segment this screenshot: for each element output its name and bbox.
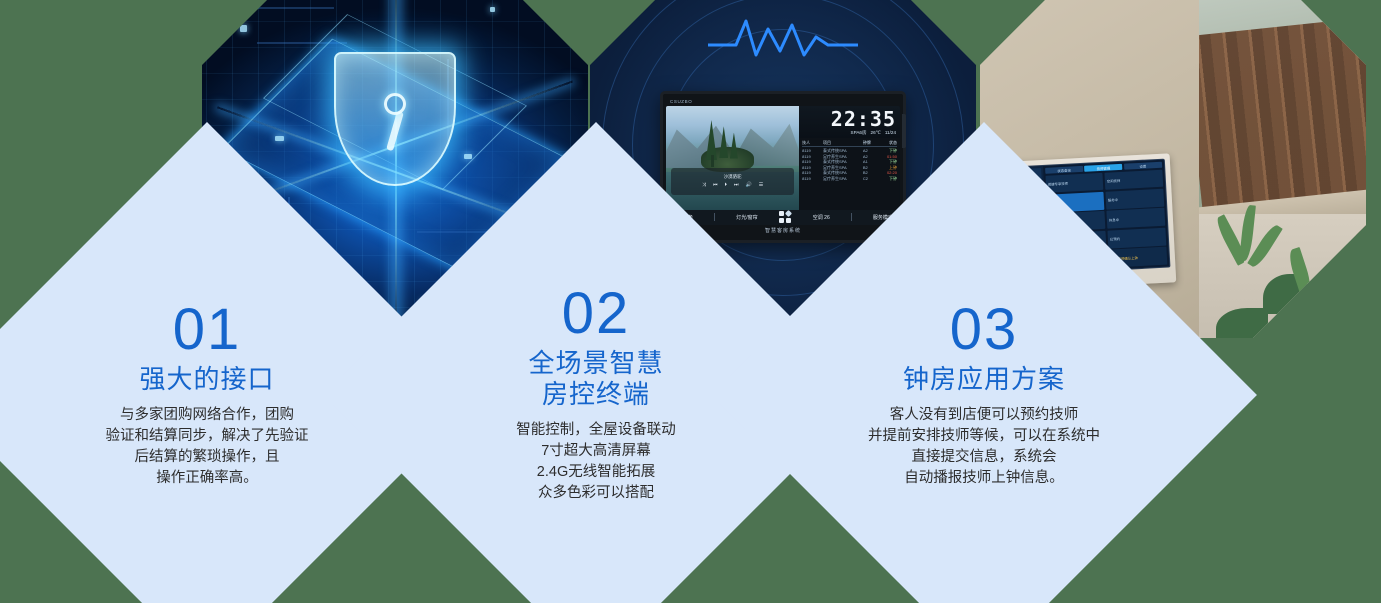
card-desc-line: 7寸超大高清屏幕: [446, 441, 746, 462]
home-grid-icon[interactable]: [779, 211, 792, 224]
table-row: 8119 足疗养生SPA C2 下钟: [802, 176, 897, 182]
date-label: 11/24: [885, 130, 896, 135]
tablet-screen[interactable]: 沙漠骆驼 ⤨ ⏮ ⏵ ⏭ 🔊 ☰: [666, 106, 900, 210]
card-title-line: 房控终端: [446, 379, 746, 410]
card-title: 全场景智慧 房控终端: [446, 348, 746, 410]
card-content: 02 全场景智慧 房控终端 智能控制，全屋设备联动 7寸超大高清屏幕 2.4G无…: [446, 286, 746, 504]
toolbar-aircon[interactable]: 空调 26: [810, 214, 833, 221]
music-player-widget[interactable]: 沙漠骆驼 ⤨ ⏮ ⏵ ⏭ 🔊 ☰: [671, 168, 794, 195]
card-description: 与多家团购网络合作，团购 验证和结算同步，解决了先验证 后结算的繁琐操作，且 操…: [57, 405, 357, 489]
now-playing-title: 沙漠骆驼: [724, 174, 742, 180]
list-item[interactable]: 空闲技师: [1105, 169, 1163, 190]
card-number: 02: [446, 286, 746, 342]
card-desc-line: 众多色彩可以搭配: [446, 483, 746, 504]
vendor-logo-text: 智慧客房系统: [765, 227, 801, 234]
feature-diamond-banner: CSUZBO 沙漠骆驼: [0, 0, 1381, 603]
heartbeat-icon: [708, 10, 858, 64]
col-header: 钟牌: [863, 140, 878, 146]
clock-time: 22:35: [831, 109, 896, 129]
card-number: 03: [834, 302, 1134, 358]
card-title-line: 钟房应用方案: [834, 364, 1134, 395]
tablet-bottom-toolbar[interactable]: 呼叫服务 灯光/窗帘 空调 26 服务模式: [666, 210, 900, 225]
col-header: 项目: [823, 140, 863, 146]
glow-particle: [275, 136, 284, 141]
card-desc-line: 操作正确率高。: [57, 468, 357, 489]
card-desc-line: 并提前安排技师等候，可以在系统中: [834, 426, 1134, 447]
tablet-top-bar: CSUZBO: [666, 97, 900, 106]
shuffle-icon[interactable]: ⤨: [702, 182, 706, 188]
table-header-row: 技人 项目 钟牌 状态: [802, 140, 897, 148]
tab-settings[interactable]: 设置: [1124, 162, 1162, 170]
card-desc-line: 后结算的繁琐操作，且: [57, 447, 357, 468]
tablet-brand-label: CSUZBO: [670, 98, 692, 103]
list-icon[interactable]: ☰: [759, 182, 763, 188]
divider: [714, 213, 715, 221]
tab-technician-active[interactable]: 技师管理: [1085, 164, 1123, 172]
cell-item: 足疗养生SPA: [823, 176, 863, 182]
card-content: 01 强大的接口 与多家团购网络合作，团购 验证和结算同步，解决了先验证 后结算…: [57, 302, 357, 489]
player-controls[interactable]: ⤨ ⏮ ⏵ ⏭ 🔊 ☰: [702, 182, 763, 188]
list-item[interactable]: 休息中: [1107, 208, 1165, 229]
wall-tablet-device[interactable]: CSUZBO 沙漠骆驼: [660, 91, 906, 243]
card-desc-line: 智能控制，全屋设备联动: [446, 420, 746, 441]
card-title: 钟房应用方案: [834, 364, 1134, 395]
card-description: 客人没有到店便可以预约技师 并提前安排技师等候，可以在系统中 直接提交信息，系统…: [834, 405, 1134, 489]
card-desc-line: 与多家团购网络合作，团购: [57, 405, 357, 426]
toolbar-lighting[interactable]: 灯光/窗帘: [733, 214, 760, 221]
card-title-line: 全场景智慧: [446, 348, 746, 379]
tree-shape: [730, 133, 738, 159]
card-desc-line: 验证和结算同步，解决了先验证: [57, 426, 357, 447]
temperature-label: 26℃: [871, 130, 881, 136]
card-desc-line: 自动播报技师上钟信息。: [834, 468, 1134, 489]
status-side-panel: 22:35 SPA6房 26℃ 11/24 技人 项目: [799, 106, 900, 210]
tab-status[interactable]: 状态查询: [1045, 166, 1083, 174]
clock-widget: 22:35 SPA6房 26℃ 11/24: [799, 106, 900, 138]
card-desc-line: 直接提交信息，系统会: [834, 447, 1134, 468]
play-icon[interactable]: ⏵: [724, 182, 727, 188]
card-title-line: 强大的接口: [57, 364, 357, 395]
glow-particle: [240, 25, 247, 32]
glow-particle: [464, 154, 472, 159]
next-icon[interactable]: ⏭: [734, 182, 739, 188]
card-content: 03 钟房应用方案 客人没有到店便可以预约技师 并提前安排技师等候，可以在系统中…: [834, 302, 1134, 489]
cell-status: 下钟: [878, 176, 897, 182]
list-item[interactable]: 服务中: [1106, 189, 1164, 210]
technician-status-table: 技人 项目 钟牌 状态 8119 泰式传统SPA A2 下钟: [799, 138, 900, 210]
card-title: 强大的接口: [57, 364, 357, 395]
glow-particle: [490, 7, 495, 12]
list-item[interactable]: 已预约: [1108, 227, 1166, 248]
wallpaper-nature-photo: 沙漠骆驼 ⤨ ⏮ ⏵ ⏭ 🔊 ☰: [666, 106, 799, 210]
previous-icon[interactable]: ⏮: [713, 182, 718, 188]
card-number: 01: [57, 302, 357, 358]
card-desc-line: 2.4G无线智能拓展: [446, 462, 746, 483]
col-header: 技人: [802, 140, 823, 146]
list-item[interactable]: 保健专享技师: [1046, 172, 1104, 193]
room-label: SPA6房: [851, 130, 867, 136]
col-header: 状态: [878, 139, 897, 145]
volume-icon[interactable]: 🔊: [745, 182, 751, 188]
tree-trunk: [711, 155, 714, 167]
circuit-trace: [214, 7, 334, 9]
divider: [851, 213, 852, 221]
cell-tech: 8119: [802, 176, 823, 182]
clock-meta: SPA6房 26℃ 11/24: [851, 130, 896, 136]
cell-room: C2: [863, 176, 878, 182]
card-desc-line: 客人没有到店便可以预约技师: [834, 405, 1134, 426]
card-description: 智能控制，全屋设备联动 7寸超大高清屏幕 2.4G无线智能拓展 众多色彩可以搭配: [446, 420, 746, 504]
